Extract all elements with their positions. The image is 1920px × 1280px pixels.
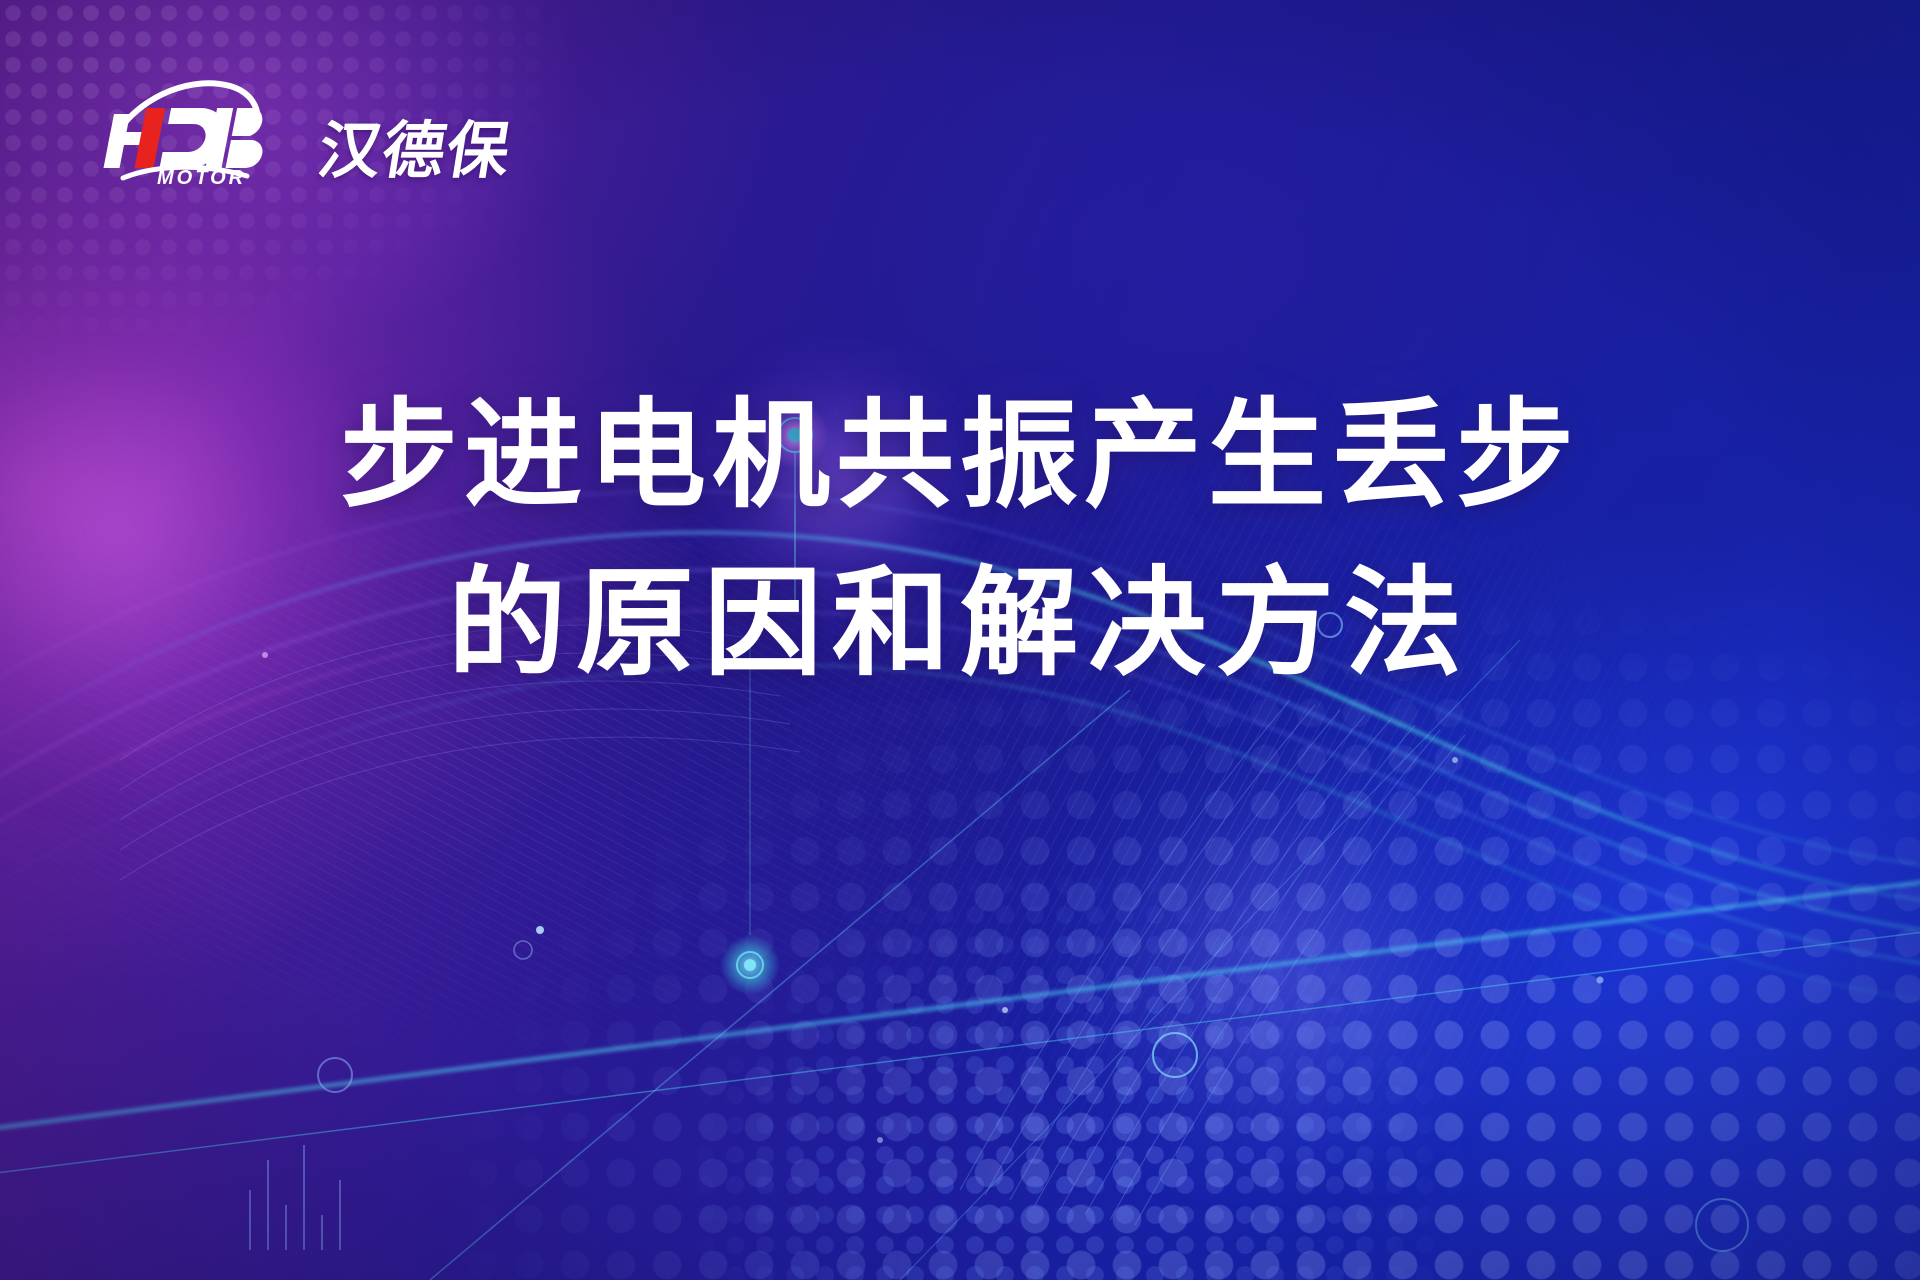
brand-name-cn: 汉德保 [313, 100, 519, 190]
headline-line-2: 的原因和解决方法 [0, 540, 1920, 708]
hdb-monogram-icon: MOTOR [97, 78, 302, 186]
motor-wordmark: MOTOR [157, 167, 246, 186]
banner-canvas: MOTOR 汉德保 步进电机共振产生丢步 的原因和解决方法 [0, 0, 1920, 1280]
headline-line-1: 步进电机共振产生丢步 [0, 372, 1920, 540]
hdb-logo-mark: MOTOR [97, 78, 302, 186]
headline: 步进电机共振产生丢步 的原因和解决方法 [0, 372, 1920, 707]
brand-logo[interactable]: MOTOR 汉德保 [97, 78, 512, 190]
